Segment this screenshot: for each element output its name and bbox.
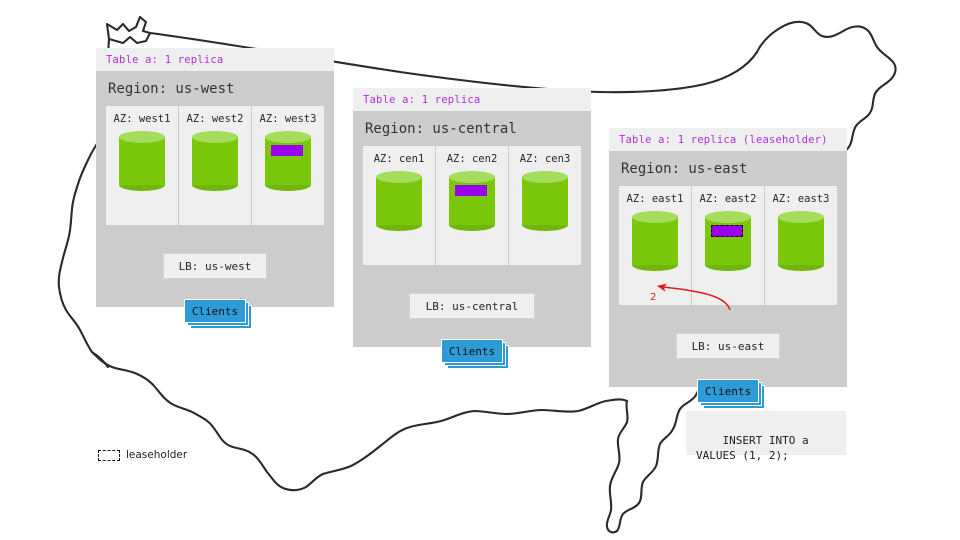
- region-title: Region: us-central: [365, 121, 581, 137]
- cylinder-top: [119, 131, 165, 143]
- cylinder-body: [192, 137, 238, 185]
- region-body-us-east: Region: us-east AZ: east1 AZ: east2: [609, 151, 847, 387]
- leaseholder-replica-marker-east2: [711, 225, 743, 237]
- az-cell-east2[interactable]: AZ: east2: [692, 186, 765, 305]
- step-number: 2: [650, 292, 656, 303]
- clients-stack-us-east[interactable]: Clients: [697, 379, 759, 403]
- cylinder-top: [192, 131, 238, 143]
- az-cell-west2[interactable]: AZ: west2: [179, 106, 252, 225]
- az-cell-east1[interactable]: AZ: east1: [619, 186, 692, 305]
- cylinder-top: [522, 171, 568, 183]
- region-body-us-central: Region: us-central AZ: cen1 AZ: cen2: [353, 111, 591, 347]
- region-panel-us-central: Table a: 1 replica Region: us-central AZ…: [353, 88, 591, 347]
- lb-label: LB: us-west: [179, 260, 252, 273]
- clients-stack-us-west[interactable]: Clients: [184, 299, 246, 323]
- clients-stack-us-central[interactable]: Clients: [441, 339, 503, 363]
- table-replica-label: Table a: 1 replica: [363, 94, 581, 106]
- legend-label: leaseholder: [126, 449, 187, 461]
- clients-label: Clients: [449, 345, 495, 358]
- az-cell-cen3[interactable]: AZ: cen3: [509, 146, 581, 265]
- cylinder-body: [778, 217, 824, 265]
- clients-label: Clients: [705, 385, 751, 398]
- cylinder-top: [778, 211, 824, 223]
- node-cylinder-cen1[interactable]: [376, 171, 422, 231]
- az-label: AZ: west2: [179, 113, 251, 125]
- node-cylinder-cen2[interactable]: [449, 171, 495, 231]
- cylinder-body: [119, 137, 165, 185]
- sql-statement-box: INSERT INTO a VALUES (1, 2);: [686, 411, 846, 455]
- sql-text: INSERT INTO a VALUES (1, 2);: [696, 434, 809, 462]
- region-header-us-west: Table a: 1 replica: [96, 48, 334, 71]
- replica-marker-west3: [271, 145, 303, 156]
- az-label: AZ: cen2: [436, 153, 508, 165]
- region-title: Region: us-west: [108, 81, 324, 97]
- cylinder-body: [632, 217, 678, 265]
- az-cell-cen1[interactable]: AZ: cen1: [363, 146, 436, 265]
- node-cylinder-west1[interactable]: [119, 131, 165, 191]
- az-row-us-east: AZ: east1 AZ: east2: [619, 186, 837, 305]
- region-panel-us-west: Table a: 1 replica Region: us-west AZ: w…: [96, 48, 334, 307]
- region-header-us-central: Table a: 1 replica: [353, 88, 591, 111]
- clients-button[interactable]: Clients: [441, 339, 503, 363]
- load-balancer-us-central[interactable]: LB: us-central: [409, 293, 535, 319]
- cylinder-body: [376, 177, 422, 225]
- arrow-step-label-2: 2: [650, 292, 656, 303]
- region-body-us-west: Region: us-west AZ: west1 AZ: west2: [96, 71, 334, 307]
- cylinder-top: [265, 131, 311, 143]
- az-cell-east3[interactable]: AZ: east3: [765, 186, 837, 305]
- lb-label: LB: us-east: [692, 340, 765, 353]
- lb-label: LB: us-central: [426, 300, 519, 313]
- az-label: AZ: west3: [252, 113, 324, 125]
- az-cell-west3[interactable]: AZ: west3: [252, 106, 324, 225]
- cylinder-top: [632, 211, 678, 223]
- az-label: AZ: cen1: [363, 153, 435, 165]
- clients-button[interactable]: Clients: [184, 299, 246, 323]
- node-cylinder-east3[interactable]: [778, 211, 824, 271]
- legend: leaseholder: [98, 449, 187, 461]
- node-cylinder-cen3[interactable]: [522, 171, 568, 231]
- node-cylinder-east2[interactable]: [705, 211, 751, 271]
- node-cylinder-west3[interactable]: [265, 131, 311, 191]
- table-replica-label: Table a: 1 replica (leaseholder): [619, 134, 837, 146]
- diagram-canvas: Table a: 1 replica Region: us-west AZ: w…: [0, 0, 960, 540]
- region-panel-us-east: Table a: 1 replica (leaseholder) Region:…: [609, 128, 847, 387]
- az-cell-west1[interactable]: AZ: west1: [106, 106, 179, 225]
- load-balancer-us-west[interactable]: LB: us-west: [163, 253, 267, 279]
- load-balancer-us-east[interactable]: LB: us-east: [676, 333, 780, 359]
- az-label: AZ: cen3: [509, 153, 581, 165]
- az-label: AZ: east3: [765, 193, 837, 205]
- az-label: AZ: east2: [692, 193, 764, 205]
- az-row-us-central: AZ: cen1 AZ: cen2: [363, 146, 581, 265]
- cylinder-top: [705, 211, 751, 223]
- az-cell-cen2[interactable]: AZ: cen2: [436, 146, 509, 265]
- replica-marker-cen2: [455, 185, 487, 196]
- region-header-us-east: Table a: 1 replica (leaseholder): [609, 128, 847, 151]
- az-label: AZ: east1: [619, 193, 691, 205]
- clients-button[interactable]: Clients: [697, 379, 759, 403]
- az-label: AZ: west1: [106, 113, 178, 125]
- node-cylinder-east1[interactable]: [632, 211, 678, 271]
- region-title: Region: us-east: [621, 161, 837, 177]
- cylinder-top: [376, 171, 422, 183]
- leaseholder-swatch-icon: [98, 450, 120, 461]
- table-replica-label: Table a: 1 replica: [106, 54, 324, 66]
- node-cylinder-west2[interactable]: [192, 131, 238, 191]
- clients-label: Clients: [192, 305, 238, 318]
- az-row-us-west: AZ: west1 AZ: west2 AZ: [106, 106, 324, 225]
- cylinder-top: [449, 171, 495, 183]
- cylinder-body: [522, 177, 568, 225]
